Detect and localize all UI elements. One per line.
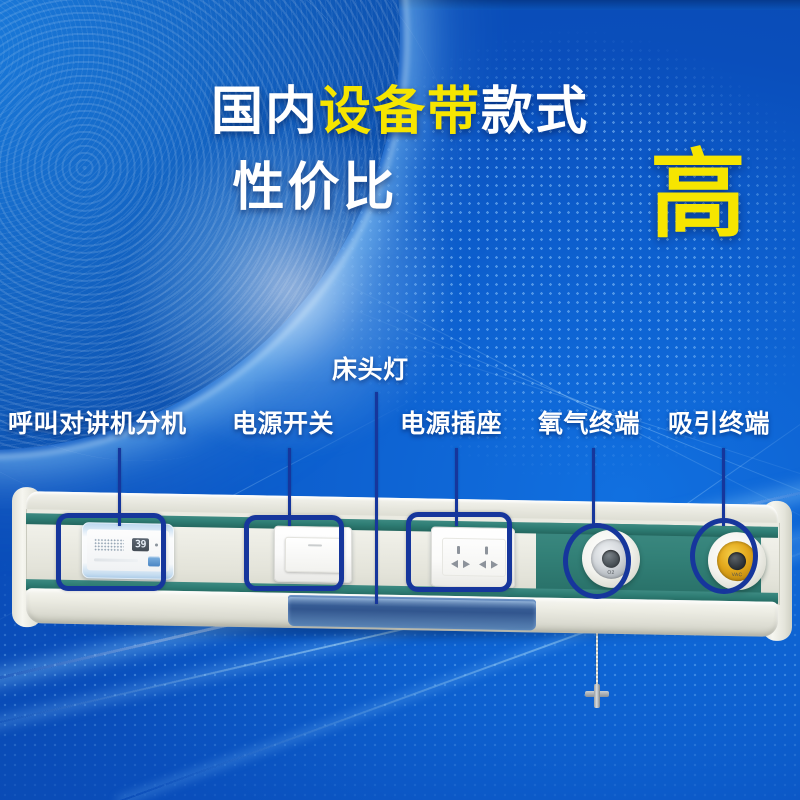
highlight-box-power-socket — [406, 512, 512, 592]
highlight-circle-oxygen — [563, 523, 631, 599]
callout-label-bedside-lamp: 床头灯 — [332, 358, 409, 383]
leader-line-bedside-lamp — [375, 392, 378, 604]
callout-label-power-switch: 电源开关 — [232, 412, 334, 437]
leader-line-suction-terminal — [722, 448, 725, 526]
callout-label-power-socket: 电源插座 — [400, 412, 502, 437]
leader-line-oxygen-terminal — [592, 448, 595, 526]
callout-label-suction-terminal: 吸引终端 — [668, 412, 770, 437]
highlight-box-intercom — [56, 513, 166, 591]
promo-banner: 国内设备带款式 性价比 高 呼叫对讲机分机 电源开关 床头灯 电源插座 氧气终端… — [0, 0, 800, 800]
highlight-box-power-switch — [244, 515, 344, 591]
callout-layer: 呼叫对讲机分机 电源开关 床头灯 电源插座 氧气终端 吸引终端 — [0, 0, 800, 800]
highlight-circle-suction — [690, 518, 758, 594]
callout-label-oxygen-terminal: 氧气终端 — [538, 412, 640, 437]
callout-label-intercom: 呼叫对讲机分机 — [8, 412, 187, 437]
